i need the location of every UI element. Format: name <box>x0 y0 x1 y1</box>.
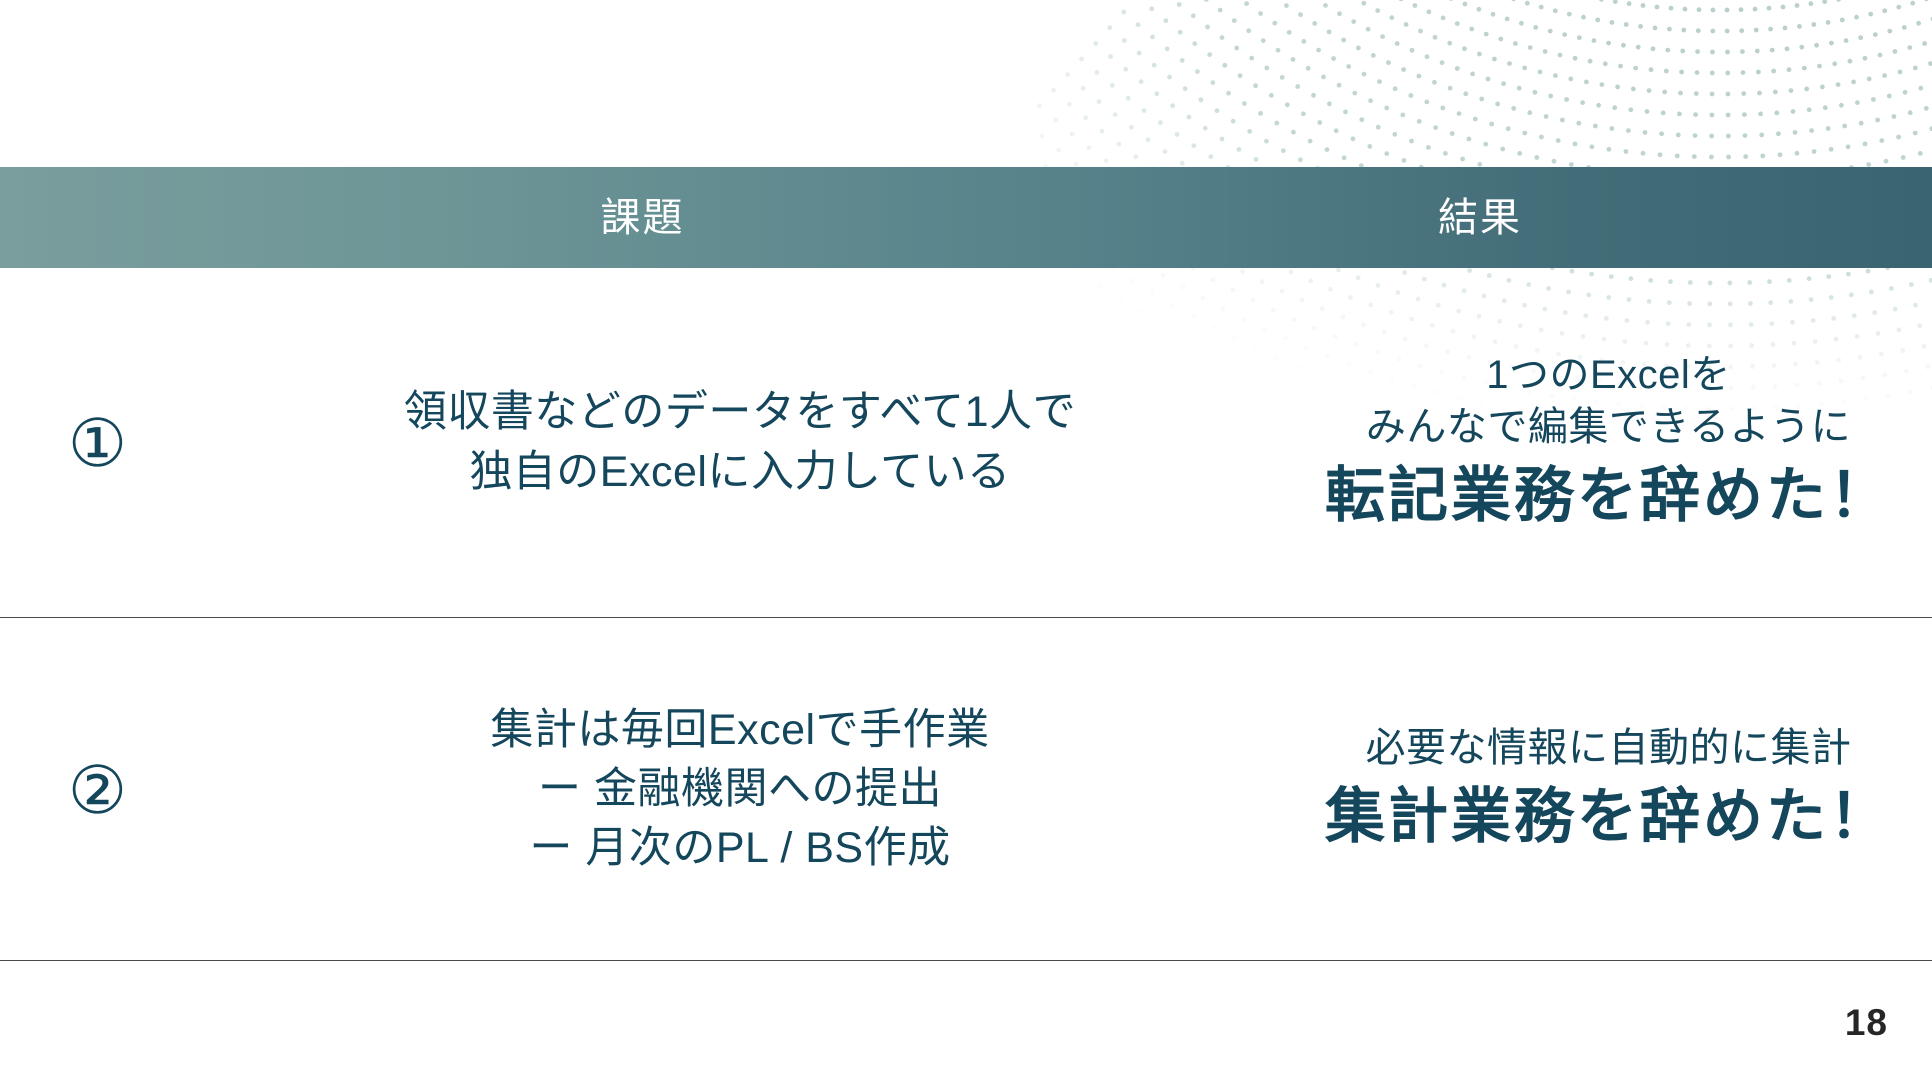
result-text-2: 必要な情報に自動的に集計 集計業務を辞めた！ <box>1285 722 1932 857</box>
row-divider <box>0 960 1932 961</box>
result-subline: みんなで編集できるように <box>1285 401 1932 453</box>
result-subline: 必要な情報に自動的に集計 <box>1285 722 1932 774</box>
result-subline: 1つのExcelを <box>1285 349 1932 401</box>
table-header-bar: 課題 結果 <box>0 167 1932 268</box>
result-headline: 転記業務を辞めた！ <box>1285 455 1932 536</box>
table-row: ② 集計は毎回Excelで手作業 ー 金融機関への提出 ー 月次のPL / BS… <box>0 619 1932 960</box>
issue-text-1: 領収書などのデータをすべて1人で 独自のExcelに入力している <box>195 383 1285 502</box>
issue-line: ー 金融機関への提出 <box>195 760 1285 819</box>
issue-text-2: 集計は毎回Excelで手作業 ー 金融機関への提出 ー 月次のPL / BS作成 <box>195 701 1285 879</box>
result-text-1: 1つのExcelを みんなで編集できるように 転記業務を辞めた！ <box>1285 349 1932 536</box>
issue-line: 集計は毎回Excelで手作業 <box>195 701 1285 760</box>
table-row: ① 領収書などのデータをすべて1人で 独自のExcelに入力している 1つのEx… <box>0 268 1932 617</box>
issue-line: 領収書などのデータをすべて1人で <box>195 383 1285 442</box>
slide-canvas: 課題 結果 ① 領収書などのデータをすべて1人で 独自のExcelに入力している… <box>0 0 1932 1088</box>
issue-line: 独自のExcelに入力している <box>195 443 1285 502</box>
row-marker-1: ① <box>0 410 195 476</box>
column-header-issue: 課題 <box>0 198 1285 238</box>
row-marker-2: ② <box>0 757 195 823</box>
issue-line: ー 月次のPL / BS作成 <box>195 819 1285 878</box>
page-number: 18 <box>1845 1002 1888 1044</box>
result-headline: 集計業務を辞めた！ <box>1285 776 1932 857</box>
row-divider <box>0 617 1932 618</box>
column-header-result: 結果 <box>1285 198 1675 238</box>
